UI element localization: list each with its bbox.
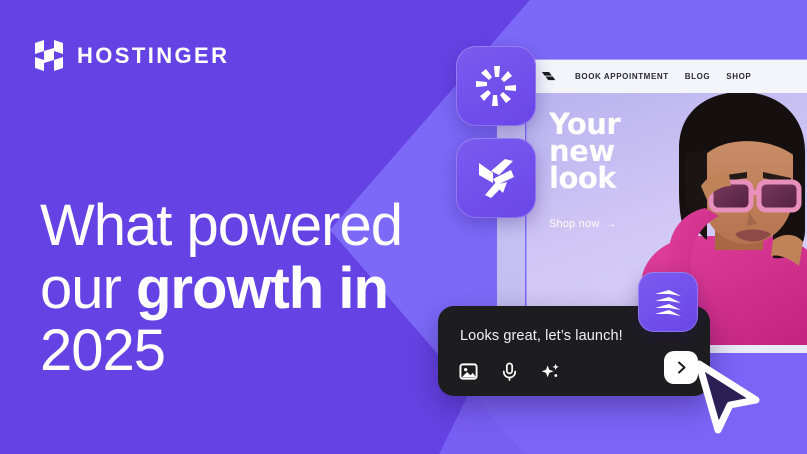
website-nav: BOOK APPOINTMENT BLOG SHOP <box>527 60 807 93</box>
send-button[interactable] <box>664 351 698 384</box>
nav-item-book-appointment[interactable]: BOOK APPOINTMENT <box>575 72 669 81</box>
stacked-chevrons-icon <box>651 285 685 319</box>
hero-title-line-3: look <box>549 165 620 192</box>
brand-swoosh-icon <box>541 71 559 83</box>
shop-now-label: Shop now <box>549 218 600 230</box>
app-tile-arrow-bird[interactable] <box>456 138 536 218</box>
image-icon[interactable] <box>459 362 478 381</box>
chevron-right-icon <box>675 361 688 374</box>
hero-copy: Your new look Shop now → <box>549 111 620 230</box>
headline-line-3: 2025 <box>40 320 402 383</box>
app-tile-stacked-chevrons[interactable] <box>638 272 698 332</box>
nav-item-shop[interactable]: SHOP <box>726 72 751 81</box>
headline-line-1: What powered <box>40 195 402 258</box>
headline-line-2-light: our <box>40 256 136 321</box>
arrow-bird-icon <box>473 155 519 201</box>
chat-toolbar <box>459 362 560 381</box>
page-title: What powered our growth in 2025 <box>40 195 402 383</box>
promo-banner: HOSTINGER What powered our growth in 202… <box>0 0 807 454</box>
hero-title: Your new look <box>549 111 620 192</box>
nav-item-blog[interactable]: BLOG <box>685 72 711 81</box>
shop-now-link[interactable]: Shop now → <box>549 218 620 230</box>
sparkles-icon[interactable] <box>541 362 560 381</box>
headline-line-2: our growth in <box>40 258 402 321</box>
hostinger-logo: HOSTINGER <box>33 40 229 71</box>
app-tile-burst[interactable] <box>456 46 536 126</box>
microphone-icon[interactable] <box>500 362 519 381</box>
mouse-pointer-icon <box>694 358 764 436</box>
headline-line-2-bold: growth in <box>136 256 388 321</box>
arrow-right-icon: → <box>606 218 617 230</box>
burst-icon <box>474 64 518 108</box>
hostinger-wordmark: HOSTINGER <box>77 45 229 67</box>
hostinger-h-logo-icon <box>33 40 65 71</box>
chat-message: Looks great, let’s launch! <box>460 328 623 344</box>
